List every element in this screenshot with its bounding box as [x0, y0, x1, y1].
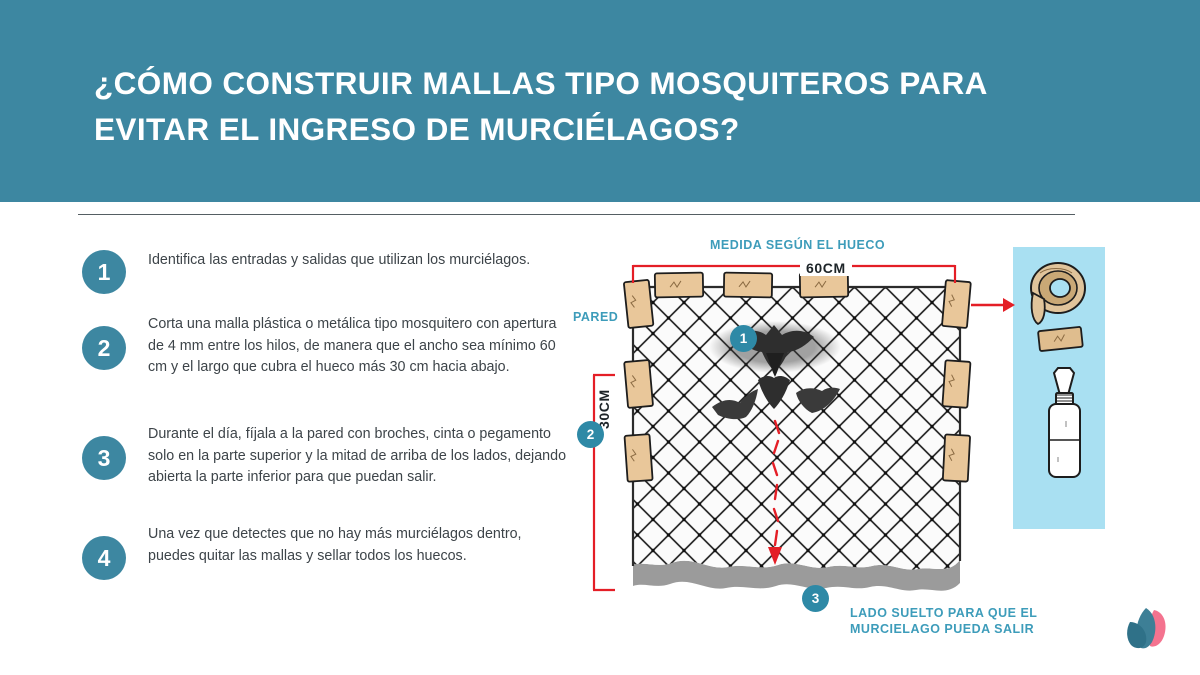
tape-pieces-right [942, 280, 971, 482]
diagram-marker-3: 3 [802, 585, 829, 612]
step-number-badge-2: 2 [82, 326, 126, 370]
tape-pieces-top [655, 273, 848, 298]
step-number-badge-3: 3 [82, 436, 126, 480]
brand-logo [1124, 604, 1180, 656]
label-loose-side-line-2: MURCIELAGO PUEDA SALIR [850, 622, 1034, 636]
label-loose-side-line-1: LADO SUELTO PARA QUE EL [850, 606, 1037, 620]
page-title: ¿CÓMO CONSTRUIR MALLAS TIPO MOSQUITEROS … [94, 60, 1054, 152]
step-text-2: Corta una malla plástica o metálica tipo… [148, 314, 568, 379]
step-text-1: Identifica las entradas y salidas que ut… [148, 250, 568, 272]
step-number-badge-1: 1 [82, 250, 126, 294]
step-text-4: Una vez que detectes que no hay más murc… [148, 524, 568, 567]
page-title-line-1: ¿CÓMO CONSTRUIR MALLAS TIPO MOSQUITEROS … [94, 60, 1054, 106]
step-number-badge-4: 4 [82, 536, 126, 580]
tools-pointer-arrow [971, 298, 1015, 312]
tape-strip-icon [1038, 327, 1083, 351]
page-title-line-2: EVITAR EL INGRESO DE MURCIÉLAGOS? [94, 106, 1054, 152]
step-text-3: Durante el día, fíjala a la pared con br… [148, 424, 568, 489]
label-loose-side: LADO SUELTO PARA QUE EL MURCIELAGO PUEDA… [850, 605, 1037, 637]
horizontal-divider [78, 214, 1075, 215]
tape-roll-icon [1031, 263, 1085, 324]
glue-bottle-icon [1049, 368, 1080, 477]
dimension-label-width: 60CM [800, 260, 852, 276]
diagram-marker-2: 2 [577, 421, 604, 448]
mesh-diagram: MEDIDA SEGÚN EL HUECO PARED LADO SUELTO … [560, 225, 1200, 655]
label-wall: PARED [573, 310, 618, 324]
mesh-illustration [560, 225, 1200, 655]
infographic-page: ¿CÓMO CONSTRUIR MALLAS TIPO MOSQUITEROS … [0, 0, 1200, 675]
tape-pieces-left [624, 280, 654, 482]
diagram-marker-1: 1 [730, 325, 757, 352]
header-banner: ¿CÓMO CONSTRUIR MALLAS TIPO MOSQUITEROS … [0, 0, 1200, 202]
label-measure-per-hole: MEDIDA SEGÚN EL HUECO [710, 238, 885, 252]
